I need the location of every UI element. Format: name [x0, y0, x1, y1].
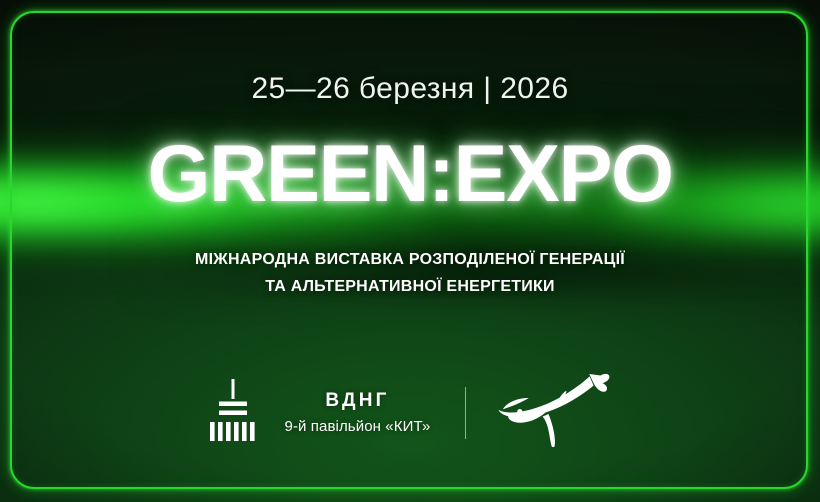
venue-row: ВДНГ 9-й павільйон «КИТ» — [0, 373, 820, 452]
event-subtitle: МІЖНАРОДНА ВИСТАВКА РОЗПОДІЛЕНОЇ ГЕНЕРАЦ… — [195, 246, 625, 300]
vdnh-colonnade-icon — [207, 379, 259, 446]
event-subtitle-line-2: ТА АЛЬТЕРНАТИВНОЇ ЕНЕРГЕТИКИ — [195, 273, 625, 300]
venue-pavilion: 9-й павільйон «КИТ» — [285, 419, 431, 434]
page-title: GREEN:EXPO — [147, 134, 672, 215]
venue-text-block: ВДНГ 9-й павільйон «КИТ» — [285, 391, 431, 434]
event-date: 25—26 березня | 2026 — [251, 72, 568, 106]
venue-name: ВДНГ — [325, 391, 389, 410]
event-subtitle-line-1: МІЖНАРОДНА ВИСТАВКА РОЗПОДІЛЕНОЇ ГЕНЕРАЦ… — [195, 246, 625, 273]
green-expo-poster: 25—26 березня | 2026 GREEN:EXPO МІЖНАРОД… — [0, 0, 820, 502]
venue-divider — [465, 387, 466, 439]
whale-icon — [496, 373, 614, 452]
